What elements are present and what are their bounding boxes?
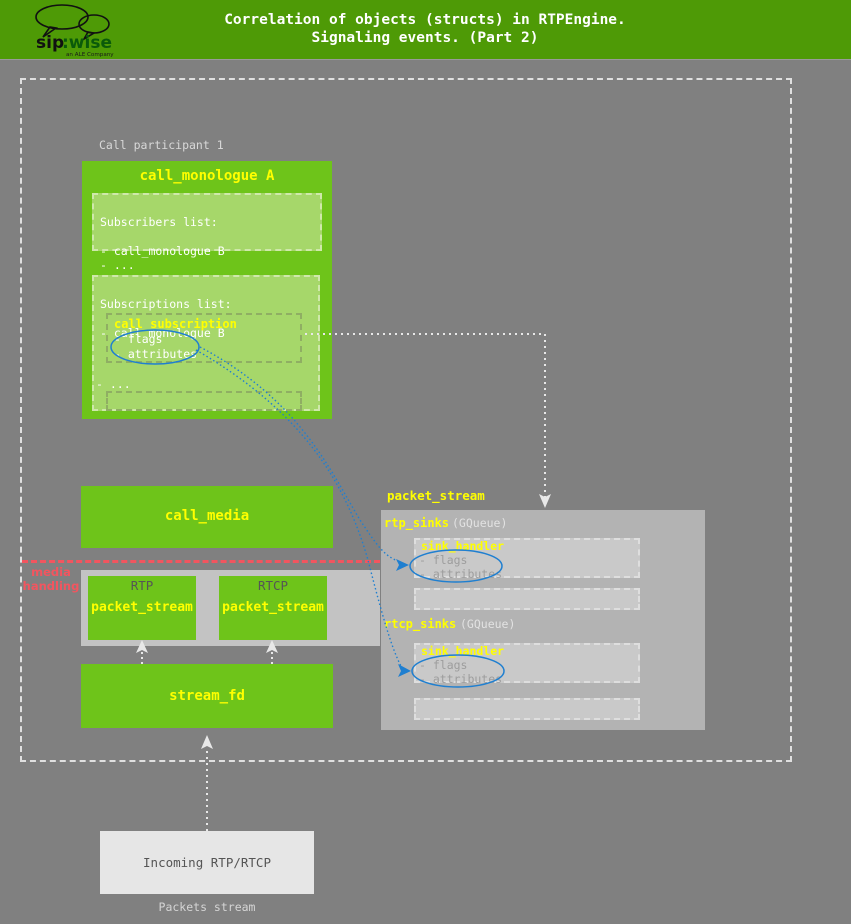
rtcp-sinks-label: rtcp_sinks	[384, 617, 456, 631]
call-participant-label: Call participant 1	[99, 138, 224, 152]
page-title: Correlation of objects (structs) in RTPE…	[140, 11, 710, 47]
rtcp-kind-label: RTCP	[219, 578, 327, 593]
sipwise-logo: sip :wise an ALE Company	[28, 3, 132, 58]
media-handling-label: media handling	[20, 565, 82, 593]
call-media-box[interactable]: call_media	[81, 486, 333, 548]
rtp-title: packet_stream	[88, 600, 196, 615]
rtcp-title: packet_stream	[219, 600, 327, 615]
call-monologue-box[interactable]: call_monologue A Subscribers list: - cal…	[82, 161, 332, 419]
rtp-packet-stream-box[interactable]: RTP packet_stream	[88, 576, 196, 640]
logo-graphic: sip :wise an ALE Company	[28, 3, 132, 58]
rtcp-sink-flags: - flags	[419, 658, 467, 672]
rtcp-sink-attributes: - attributes	[419, 672, 502, 686]
call-subscription-title: call_subscription	[114, 317, 237, 332]
rtp-sinks-type: (GQueue)	[452, 516, 507, 530]
svg-text::wise: :wise	[62, 33, 112, 53]
stream-fd-box[interactable]: stream_fd	[81, 664, 333, 728]
stream-fd-title: stream_fd	[81, 688, 333, 704]
rtp-sink-handler-title: sink_handler	[421, 539, 504, 553]
svg-text:an ALE Company: an ALE Company	[66, 52, 114, 58]
packets-stream-caption: Packets stream	[100, 900, 314, 914]
rtcp-sinks-type: (GQueue)	[460, 617, 515, 631]
subscriptions-list-box: Subscriptions list: - call monologue B c…	[92, 275, 320, 411]
rtp-sink-attributes: - attributes	[419, 567, 502, 581]
subscriptions-heading: Subscriptions list:	[100, 297, 312, 312]
rtp-sink-handler-slot-empty[interactable]	[414, 588, 640, 610]
call-monologue-title: call_monologue A	[82, 168, 332, 184]
packet-stream-caption: packet_stream	[387, 488, 485, 503]
app-header: sip :wise an ALE Company Correlation of …	[0, 0, 851, 60]
call-subscription-fields: - flags - attributes	[114, 332, 197, 361]
incoming-rtp-rtcp-box[interactable]: Incoming RTP/RTCP	[100, 831, 314, 894]
rtcp-sink-handler-title: sink_handler	[421, 644, 504, 658]
call-subscription-box-next[interactable]	[106, 391, 302, 411]
call-media-title: call_media	[81, 508, 333, 524]
rtp-sink-flags: - flags	[419, 553, 467, 567]
subscribers-items: - call_monologue B - ...	[100, 244, 314, 273]
packet-stream-panel[interactable]: rtp_sinks (GQueue) sink_handler - flags …	[381, 510, 705, 730]
svg-text:sip: sip	[36, 33, 64, 53]
rtp-sinks-label: rtp_sinks	[384, 516, 449, 530]
rtcp-packet-stream-box[interactable]: RTCP packet_stream	[219, 576, 327, 640]
rtcp-sink-handler-slot-empty[interactable]	[414, 698, 640, 720]
subscriptions-ellipsis: - ...	[96, 377, 131, 392]
rtp-kind-label: RTP	[88, 578, 196, 593]
subscribers-list-box: Subscribers list: - call_monologue B - .…	[92, 193, 322, 251]
subscribers-heading: Subscribers list:	[100, 215, 314, 230]
media-handling-divider	[22, 560, 380, 563]
